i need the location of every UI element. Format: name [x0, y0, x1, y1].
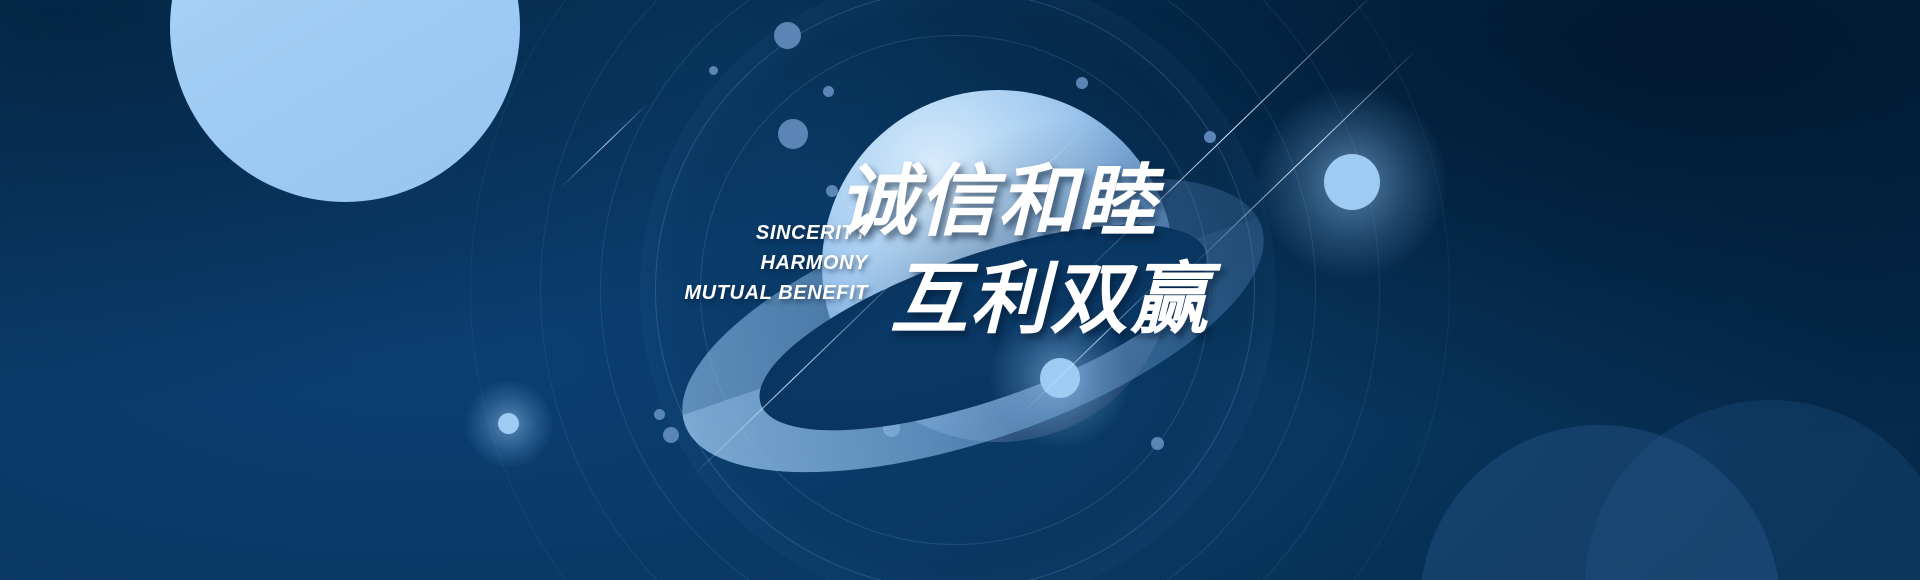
hero-banner: SINCERITY HARMONY MUTUAL BENEFIT 诚信和睦 互利… — [0, 0, 1920, 580]
banner-copy: SINCERITY HARMONY MUTUAL BENEFIT 诚信和睦 互利… — [648, 158, 1248, 368]
orbit-node-dot — [654, 409, 665, 420]
banner-subtitle: SINCERITY HARMONY MUTUAL BENEFIT — [648, 218, 868, 308]
glow-dot-small — [498, 413, 519, 434]
subtitle-line-2: HARMONY — [648, 248, 868, 278]
orbit-node-dot — [663, 427, 679, 443]
subtitle-line-3: MUTUAL BENEFIT — [648, 278, 868, 308]
headline-line-1: 诚信和睦 — [838, 157, 1158, 245]
glow-dot-large — [1324, 154, 1380, 210]
subtitle-line-1: SINCERITY — [648, 218, 868, 248]
orbit-node-dot — [774, 22, 801, 49]
headline-line-2: 互利双赢 — [890, 250, 1210, 348]
banner-headline: 诚信和睦 互利双赢 — [838, 152, 1210, 348]
